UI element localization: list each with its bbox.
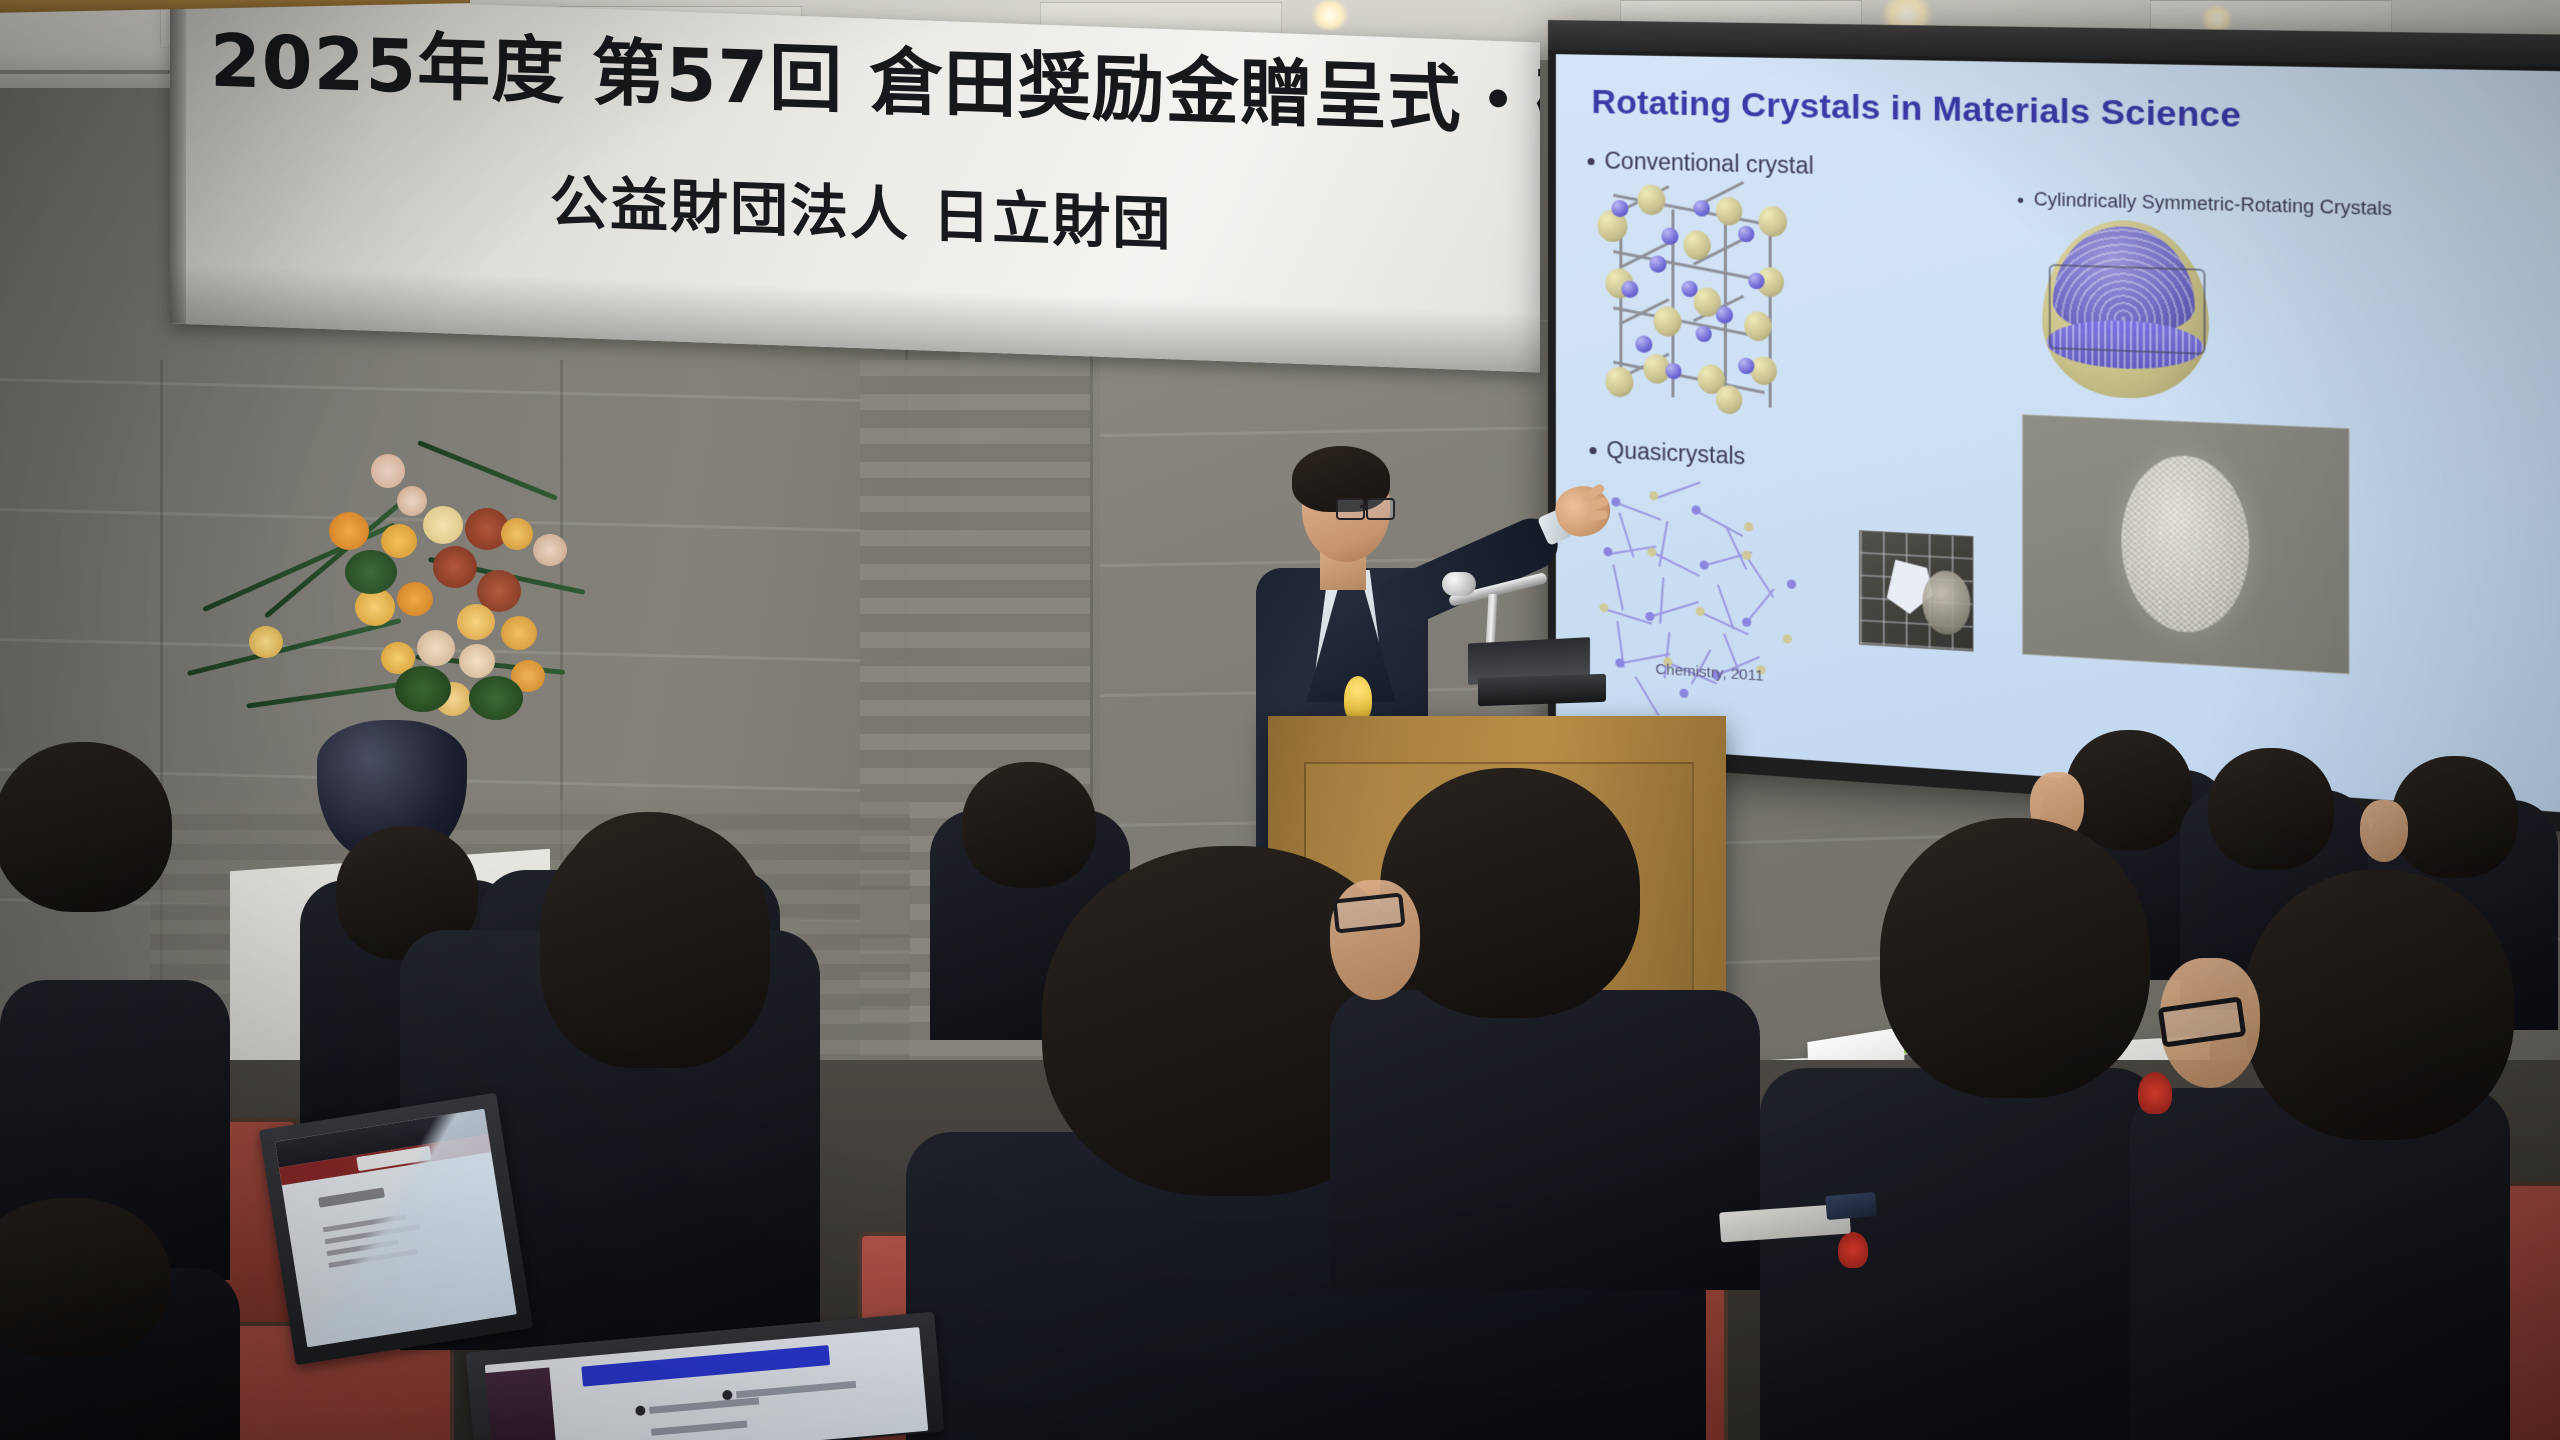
flower-bloom — [249, 626, 283, 658]
flower-bloom — [533, 534, 567, 566]
slide-bullet-rotating-crystals: Cylindrically Symmetric-Rotating Crystal… — [2018, 188, 2392, 220]
bullet-dot-icon — [1588, 158, 1595, 165]
audience-head — [962, 762, 1096, 888]
palm-frond — [187, 618, 402, 676]
audience-head — [2208, 748, 2334, 870]
banner-title-line1: 2025年度 第57回 倉田奨励金贈呈式・研究報告会 — [210, 25, 1540, 151]
glasses-lens-right — [1366, 498, 1395, 520]
laptop-screen-content-line — [736, 1381, 856, 1398]
audience-member — [2130, 1088, 2510, 1440]
slide-bullet-label: Conventional crystal — [1604, 147, 1813, 179]
laptop-screen-blue-bar — [581, 1345, 830, 1387]
rendered-ellipsoid — [2121, 453, 2249, 636]
flower-foliage — [345, 550, 397, 594]
ceiling-light — [1310, 0, 1350, 30]
slide-bullet-label: Quasicrystals — [1606, 437, 1745, 470]
glasses-lens-left — [1336, 498, 1365, 520]
audience-member — [1330, 990, 1760, 1290]
flower-foliage — [395, 666, 451, 712]
conventional-crystal-lattice-figure — [1598, 183, 1805, 408]
slide-bullet-label: Cylindrically Symmetric-Rotating Crystal… — [2034, 189, 2392, 220]
flower-bloom — [397, 486, 427, 516]
slide-bullet-quasicrystals: Quasicrystals — [1590, 436, 1746, 471]
audience-head — [2392, 756, 2518, 878]
flower-bloom — [457, 604, 495, 640]
flower-bloom — [433, 546, 477, 588]
palm-frond — [417, 440, 558, 501]
photograph-scene: 2025年度 第57回 倉田奨励金贈呈式・研究報告会 公益財団法人 日立財団 R… — [0, 0, 2560, 1440]
presentation-slide: Rotating Crystals in Materials Science C… — [1556, 54, 2560, 816]
audience-head — [0, 1198, 170, 1358]
laptop-screen-bullet-icon — [635, 1405, 646, 1416]
slide-title: Rotating Crystals in Materials Science — [1592, 83, 2242, 136]
laptop-front-left[interactable] — [259, 1093, 533, 1366]
flower-bloom — [371, 454, 405, 488]
rotating-crystal-ellipsoid-figure — [2042, 218, 2209, 401]
flower-bloom — [501, 518, 533, 550]
laptop-screen-content-line — [649, 1397, 759, 1414]
table-pen-case — [1825, 1192, 1877, 1220]
audience-head — [2066, 730, 2192, 850]
laptop-screen-content-line — [651, 1420, 747, 1435]
banner-title-line2: 公益財団法人 日立財団 — [550, 173, 1172, 253]
bullet-dot-icon — [1590, 447, 1597, 454]
audience-face — [2360, 800, 2408, 862]
projection-screen: Rotating Crystals in Materials Science C… — [1548, 20, 2560, 836]
audience-head — [1880, 818, 2150, 1098]
laptop-screen-sidebar — [486, 1367, 558, 1440]
flower-bloom — [329, 512, 369, 550]
flower-bloom — [459, 644, 495, 678]
event-banner: 2025年度 第57回 倉田奨励金贈呈式・研究報告会 公益財団法人 日立財団 — [170, 0, 1540, 373]
glasses-bridge — [1360, 505, 1368, 508]
laptop-screen-glare — [275, 1109, 517, 1348]
quasicrystal-sample-photo — [1859, 530, 1974, 652]
palm-frond — [246, 680, 415, 709]
podium-laptop-base — [1478, 674, 1606, 706]
flower-foliage — [469, 676, 523, 720]
grayscale-ellipsoid-render — [2022, 414, 2349, 674]
audience-head — [0, 742, 172, 912]
ellipsoid-cage-outline — [2049, 264, 2206, 355]
flower-bloom — [381, 524, 417, 558]
flower-bloom — [423, 506, 463, 544]
laptop-front-left-screen[interactable] — [275, 1109, 517, 1348]
flower-bloom — [417, 630, 455, 666]
audience-red-ribbon — [1838, 1232, 1868, 1268]
speaker-glasses — [1336, 498, 1392, 517]
flower-arrangement — [185, 430, 595, 850]
flower-bloom — [397, 582, 433, 616]
microphone-head — [1442, 572, 1476, 596]
audience-glasses — [1332, 892, 1405, 933]
bullet-dot-icon — [2018, 197, 2023, 202]
flower-bloom — [501, 616, 537, 650]
audience-head — [2244, 870, 2514, 1140]
audience-member — [1760, 1068, 2160, 1440]
slide-bullet-conventional-crystal: Conventional crystal — [1588, 147, 1814, 180]
audience-head-long-hair — [540, 818, 770, 1068]
audience-red-ribbon — [2138, 1072, 2172, 1114]
ceiling-light — [2200, 6, 2234, 32]
audience-head — [1380, 768, 1640, 1018]
